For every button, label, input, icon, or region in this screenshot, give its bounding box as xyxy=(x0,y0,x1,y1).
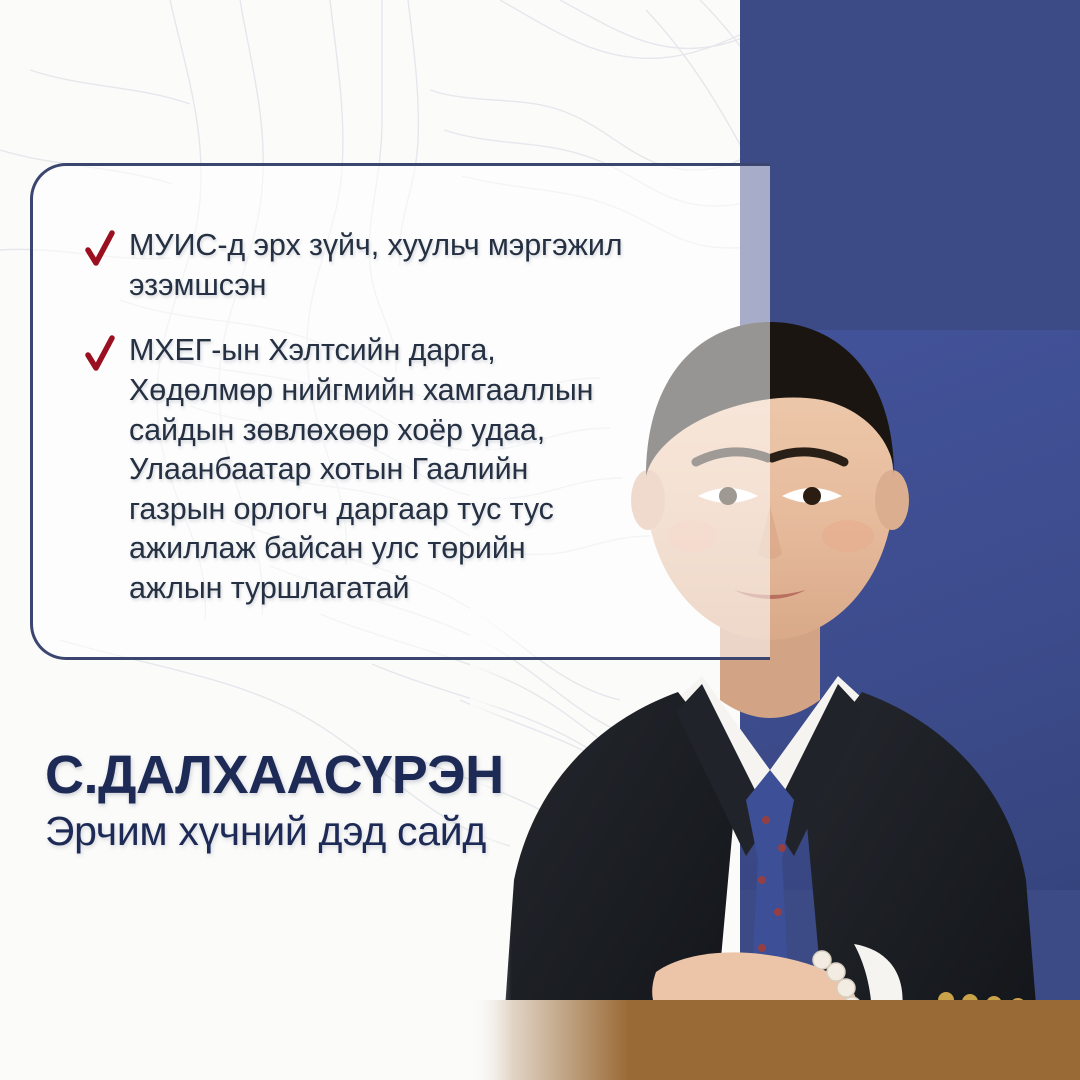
bullet-text: МУИС-д эрх зүйч, хуульч мэргэжил эзэмшсэ… xyxy=(129,226,622,305)
check-icon xyxy=(85,335,115,377)
credentials-list: МУИС-д эрх зүйч, хуульч мэргэжил эзэмшсэ… xyxy=(85,226,745,635)
poster-canvas: МУИС-д эрх зүйч, хуульч мэргэжил эзэмшсэ… xyxy=(0,0,1080,1080)
check-icon xyxy=(85,230,115,272)
credentials-card: МУИС-д эрх зүйч, хуульч мэргэжил эзэмшсэ… xyxy=(30,163,770,660)
identity-block: С.ДАЛХААСҮРЭН Эрчим хүчний дэд сайд xyxy=(45,748,685,855)
list-item: МХЕГ-ын Хэлтсийн дарга, Хөдөлмөр нийгмий… xyxy=(85,331,745,608)
person-name: С.ДАЛХААСҮРЭН xyxy=(45,748,685,802)
list-item: МУИС-д эрх зүйч, хуульч мэргэжил эзэмшсэ… xyxy=(85,226,745,305)
person-role: Эрчим хүчний дэд сайд xyxy=(45,808,685,855)
bullet-text: МХЕГ-ын Хэлтсийн дарга, Хөдөлмөр нийгмий… xyxy=(129,331,593,608)
